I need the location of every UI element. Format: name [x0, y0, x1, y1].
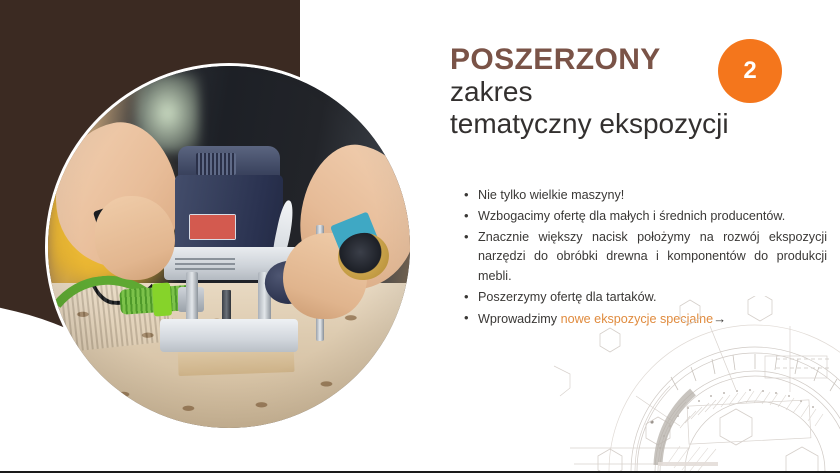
photo-vignette [48, 66, 410, 428]
bullet-list: Nie tylko wielkie maszyny! Wzbogacimy of… [462, 186, 827, 331]
bullet-text-prefix: Wprowadzimy [478, 312, 561, 326]
list-item-special-link: Wprowadzimy nowe ekspozycje specjalne→ [462, 309, 827, 329]
bullet-text: Wzbogacimy ofertę dla małych i średnich … [478, 209, 785, 223]
slide-heading: POSZERZONY zakres tematyczny ekspozycji … [450, 44, 830, 139]
list-item: Nie tylko wielkie maszyny! [462, 186, 827, 205]
slide-number-value: 2 [743, 57, 756, 85]
special-expo-link[interactable]: nowe ekspozycje specjalne [561, 312, 714, 326]
list-item: Poszerzymy ofertę dla tartaków. [462, 288, 827, 307]
bullet-text: Nie tylko wielkie maszyny! [478, 188, 624, 202]
heading-line-3: tematyczny ekspozycji [450, 108, 830, 139]
list-item: Wzbogacimy ofertę dla małych i średnich … [462, 207, 827, 226]
slide-number-badge: 2 [718, 39, 782, 103]
arrow-right-icon: → [713, 311, 726, 326]
bullet-text: Znacznie większy nacisk położymy na rozw… [478, 230, 827, 282]
hero-photo-circle [48, 66, 410, 428]
bullet-text: Poszerzymy ofertę dla tartaków. [478, 290, 656, 304]
hero-photo [48, 66, 410, 428]
slide-content: POSZERZONY zakres tematyczny ekspozycji … [450, 0, 840, 473]
presentation-slide: POSZERZONY zakres tematyczny ekspozycji … [0, 0, 840, 473]
list-item: Znacznie większy nacisk położymy na rozw… [462, 228, 827, 285]
